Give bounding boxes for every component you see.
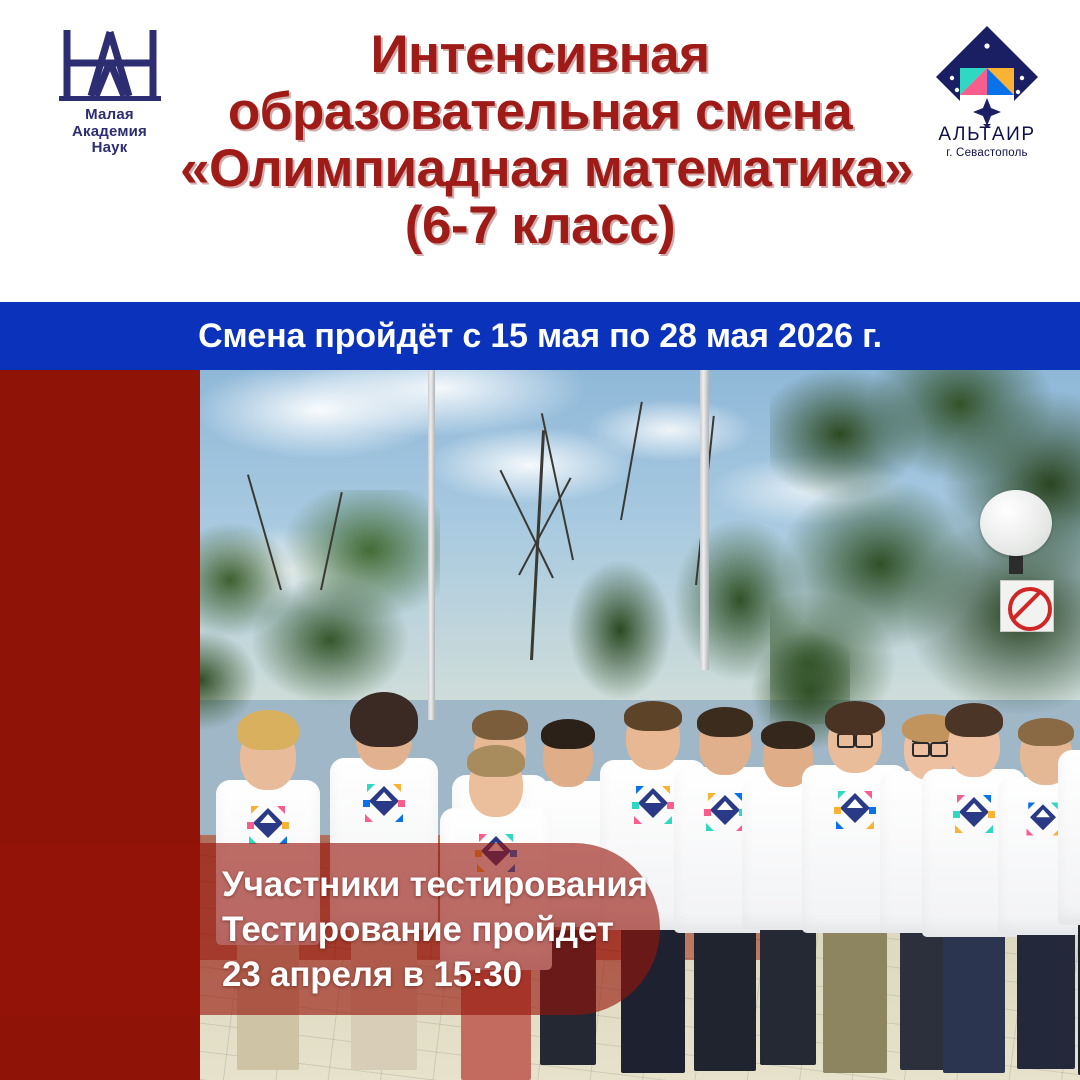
altair-diamond-icon bbox=[932, 24, 1042, 128]
altair-tshirt-print bbox=[832, 787, 878, 833]
altair-logo-title: АЛЬТАИР bbox=[922, 124, 1052, 146]
caption-text: Участники тестирования Тестирование прой… bbox=[222, 862, 648, 997]
student-hair bbox=[825, 701, 885, 735]
date-banner-text: Смена пройдёт с 15 мая по 28 мая 2026 г. bbox=[198, 317, 882, 356]
date-banner: Смена пройдёт с 15 мая по 28 мая 2026 г. bbox=[0, 302, 1080, 370]
poster-root: Малая Академия Наук Интенсивная образова… bbox=[0, 0, 1080, 1080]
man-logo-line2: Академия bbox=[32, 124, 187, 141]
student-hair bbox=[237, 710, 299, 750]
title-line-3: «Олимпиадная математика» bbox=[180, 140, 900, 197]
title-line-1: Интенсивная bbox=[180, 26, 900, 83]
altair-tshirt-print bbox=[951, 791, 997, 837]
man-logo-line3: Наук bbox=[32, 140, 187, 157]
student-figure bbox=[1056, 505, 1080, 985]
student-hair bbox=[467, 745, 525, 777]
student-hair bbox=[945, 703, 1003, 737]
student-shirt bbox=[1058, 750, 1080, 925]
poster-title: Интенсивная образовательная смена «Олимп… bbox=[180, 26, 900, 254]
altair-tshirt-print bbox=[361, 780, 407, 826]
caption-line-2: Тестирование пройдет bbox=[222, 907, 648, 952]
man-logo-line1: Малая bbox=[32, 107, 187, 124]
poster-header: Малая Академия Наук Интенсивная образова… bbox=[0, 0, 1080, 300]
title-line-2: образовательная смена bbox=[180, 83, 900, 140]
man-monogram-icon bbox=[55, 22, 165, 104]
caption-line-1: Участники тестирования bbox=[222, 862, 648, 907]
caption-line-3: 23 апреля в 15:30 bbox=[222, 952, 648, 997]
title-line-4: (6-7 класс) bbox=[180, 197, 900, 254]
altair-tshirt-print bbox=[245, 802, 291, 848]
altair-logo: АЛЬТАИР г. Севастополь bbox=[922, 24, 1052, 174]
student-hair bbox=[350, 692, 418, 747]
malaya-akademiya-nauk-logo: Малая Академия Наук bbox=[32, 22, 187, 172]
altair-logo-city: г. Севастополь bbox=[922, 147, 1052, 159]
altair-tshirt-print bbox=[630, 782, 676, 828]
